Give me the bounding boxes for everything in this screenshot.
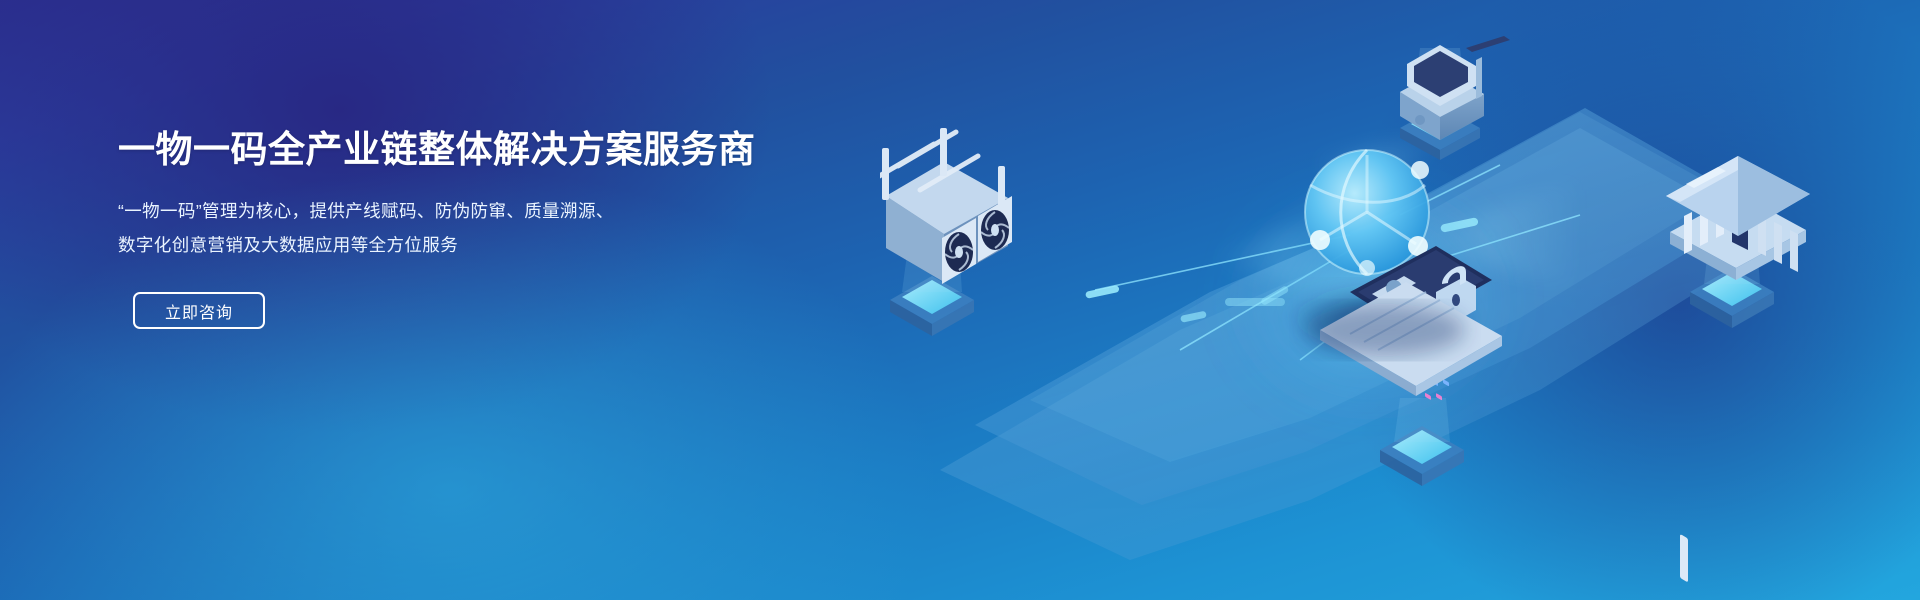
subcopy-line-1: “一物一码”管理为核心，提供产线赋码、防伪防窜、质量溯源、 xyxy=(118,194,878,228)
server-fans-node xyxy=(880,128,1012,336)
bank-building-node xyxy=(1666,156,1810,582)
subcopy-line-2: 数字化创意营销及大数据应用等全方位服务 xyxy=(118,228,878,262)
server-fans-icon xyxy=(880,128,1012,296)
hero-subcopy: “一物一码”管理为核心，提供产线赋码、防伪防窜、质量溯源、 数字化创意营销及大数… xyxy=(118,194,878,262)
hero-banner: 一物一码全产业链整体解决方案服务商 “一物一码”管理为核心，提供产线赋码、防伪防… xyxy=(0,0,1920,600)
hero-copy: 一物一码全产业链整体解决方案服务商 “一物一码”管理为核心，提供产线赋码、防伪防… xyxy=(118,128,878,329)
bank-building-icon xyxy=(1666,156,1810,582)
consult-now-button[interactable]: 立即咨询 xyxy=(133,292,265,329)
isometric-network-illustration xyxy=(880,0,1920,600)
page-title: 一物一码全产业链整体解决方案服务商 xyxy=(118,128,878,172)
